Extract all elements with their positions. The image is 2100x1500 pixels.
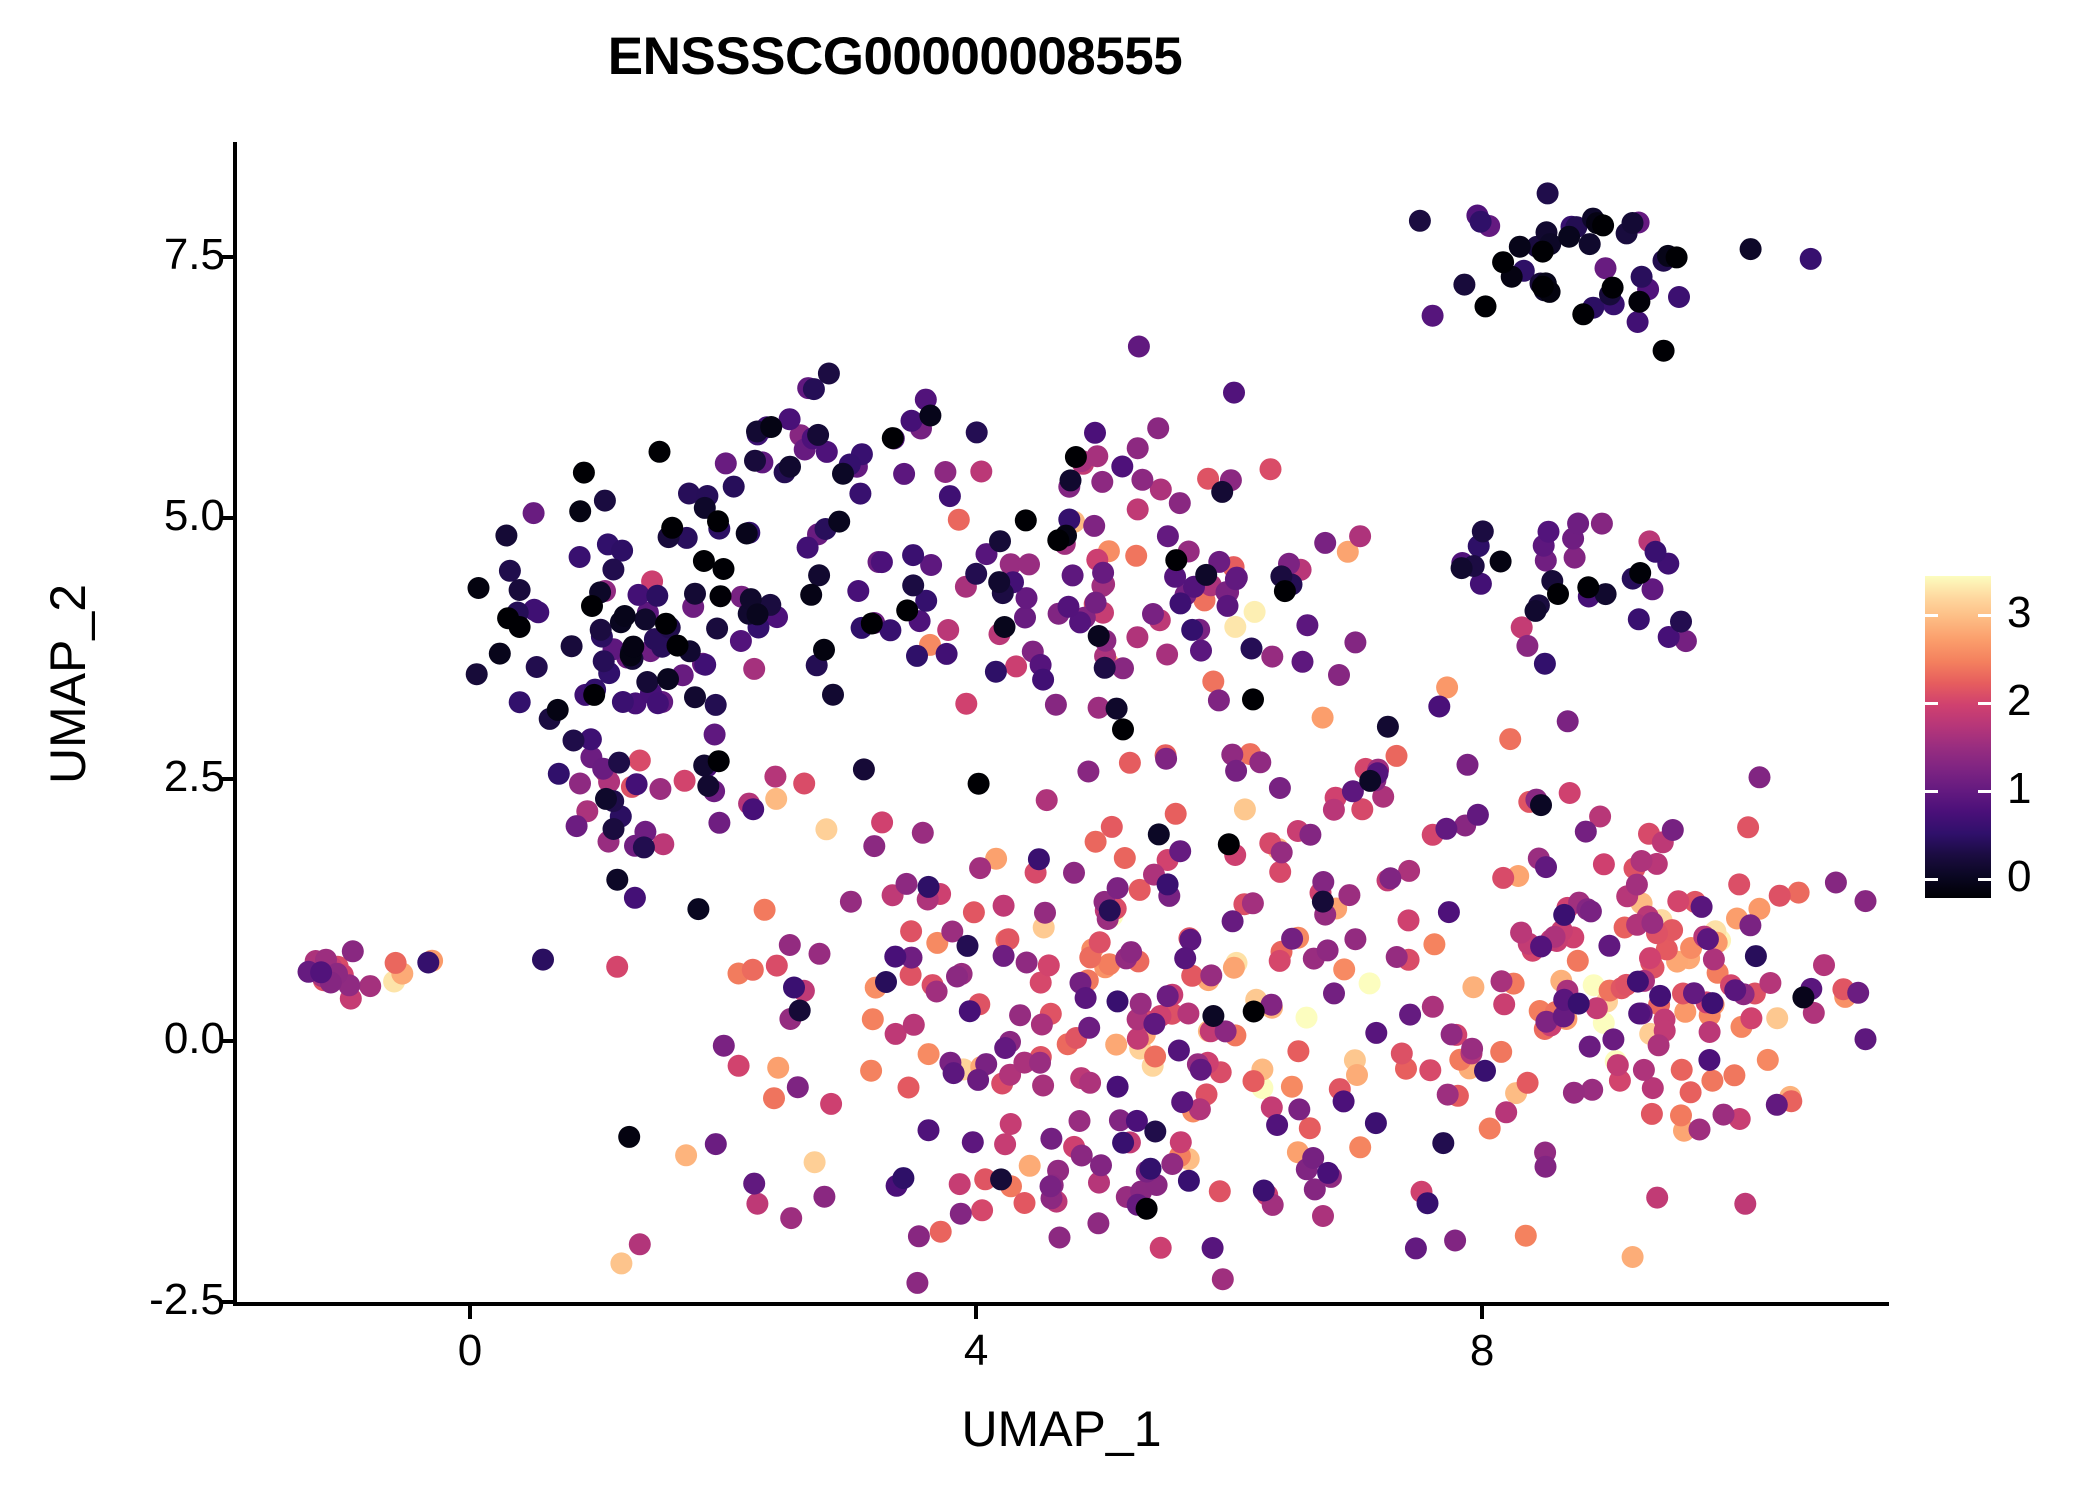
- scatter-point: [705, 694, 727, 716]
- scatter-point: [1479, 1118, 1501, 1140]
- scatter-point: [1195, 564, 1217, 586]
- scatter-point: [797, 537, 819, 559]
- scatter-point: [1222, 910, 1244, 932]
- scatter-point: [1436, 676, 1458, 698]
- scatter-point: [1532, 241, 1554, 263]
- scatter-point: [1157, 985, 1179, 1007]
- scatter-point: [1058, 596, 1080, 618]
- scatter-point: [649, 778, 671, 800]
- scatter-point: [930, 1221, 952, 1243]
- scatter-point: [1077, 761, 1099, 783]
- scatter-point: [1757, 1049, 1779, 1071]
- scatter-point: [1085, 831, 1107, 853]
- scatter-point: [971, 1199, 993, 1221]
- scatter-point: [1200, 964, 1222, 986]
- scatter-point: [1633, 1059, 1655, 1081]
- scatter-point: [815, 818, 837, 840]
- scatter-point: [1577, 576, 1599, 598]
- scatter-point: [626, 773, 648, 795]
- scatter-point: [1595, 257, 1617, 279]
- scatter-point: [902, 544, 924, 566]
- scatter-point: [1078, 1017, 1100, 1039]
- scatter-point: [1181, 619, 1203, 641]
- scatter-point: [789, 1000, 811, 1022]
- scatter-point: [1653, 340, 1675, 362]
- scatter-point: [957, 935, 979, 957]
- scatter-point: [875, 971, 897, 993]
- scatter-point: [1474, 1060, 1496, 1082]
- scatter-point: [569, 773, 591, 795]
- scatter-point: [1060, 469, 1082, 491]
- scatter-point: [1365, 1112, 1387, 1134]
- page-title: ENSSSCG00000008555: [0, 26, 1790, 87]
- scatter-point: [704, 724, 726, 746]
- scatter-point: [937, 619, 959, 641]
- scatter-point: [1766, 1094, 1788, 1116]
- scatter-point: [1208, 689, 1230, 711]
- scatter-point: [993, 945, 1015, 967]
- scatter-point: [918, 876, 940, 898]
- colorbar-tick-mark: [1925, 790, 1938, 793]
- colorbar-tick-mark: [1925, 702, 1938, 705]
- scatter-point: [1800, 248, 1822, 270]
- scatter-point: [901, 410, 923, 432]
- scatter-point: [1075, 987, 1097, 1009]
- scatter-point: [1580, 900, 1602, 922]
- scatter-point: [1532, 276, 1554, 298]
- scatter-point: [779, 456, 801, 478]
- scatter-point: [1148, 823, 1170, 845]
- scatter-point: [828, 511, 850, 533]
- scatter-point: [1575, 821, 1597, 843]
- scatter-point: [628, 584, 650, 606]
- scatter-point: [1234, 798, 1256, 820]
- scatter-point: [1419, 1059, 1441, 1081]
- scatter-point: [655, 613, 677, 635]
- scatter-point: [840, 891, 862, 913]
- scatter-point: [593, 650, 615, 672]
- scatter-point: [581, 595, 603, 617]
- scatter-point: [767, 1057, 789, 1079]
- scatter-point: [955, 693, 977, 715]
- scatter-point: [1211, 481, 1233, 503]
- y-tick-label: -2.5: [149, 1275, 225, 1325]
- scatter-point: [1014, 1192, 1036, 1214]
- scatter-point: [1142, 603, 1164, 625]
- y-tick-label: 0.0: [164, 1014, 225, 1064]
- scatter-point: [687, 898, 709, 920]
- scatter-point: [736, 523, 758, 545]
- scatter-point: [1629, 562, 1651, 584]
- scatter-point: [1493, 993, 1515, 1015]
- colorbar-tick-label: 2: [2007, 679, 2031, 723]
- scatter-point: [1087, 1212, 1109, 1234]
- scatter-point: [1602, 277, 1624, 299]
- scatter-point: [862, 1008, 884, 1030]
- scatter-point: [1333, 1090, 1355, 1112]
- scatter-point: [1312, 1205, 1334, 1227]
- scatter-point: [1323, 799, 1345, 821]
- colorbar-gradient: [1925, 576, 1991, 898]
- scatter-point: [1112, 718, 1134, 740]
- scatter-point: [566, 815, 588, 837]
- scatter-point: [1126, 1110, 1148, 1132]
- colorbar-tick-label: 1: [2007, 767, 2031, 811]
- scatter-point: [573, 462, 595, 484]
- scatter-point: [499, 560, 521, 582]
- scatter-point: [1359, 972, 1381, 994]
- scatter-point: [1628, 291, 1650, 313]
- y-tick-label: 5.0: [164, 491, 225, 541]
- scatter-point: [1535, 1156, 1557, 1178]
- scatter-point: [989, 530, 1011, 552]
- scatter-point: [969, 857, 991, 879]
- scatter-point: [1490, 551, 1512, 573]
- scatter-point: [610, 1252, 632, 1274]
- scatter-point: [1333, 958, 1355, 980]
- scatter-point: [1271, 841, 1293, 863]
- scatter-point: [1242, 892, 1264, 914]
- scatter-point: [569, 546, 591, 568]
- scatter-point: [967, 1069, 989, 1091]
- scatter-point: [1359, 770, 1381, 792]
- scatter-point: [1168, 1040, 1190, 1062]
- scatter-point: [1107, 990, 1129, 1012]
- scatter-point: [1165, 803, 1187, 825]
- scatter-point: [611, 540, 633, 562]
- scatter-point: [1015, 509, 1037, 531]
- colorbar-tick-mark: [1925, 878, 1938, 881]
- scatter-point: [809, 943, 831, 965]
- scatter-point: [1040, 1175, 1062, 1197]
- scatter-point: [1667, 890, 1689, 912]
- scatter-point: [1170, 592, 1192, 614]
- scatter-point: [723, 476, 745, 498]
- scatter-point: [595, 788, 617, 810]
- scatter-point: [1749, 766, 1771, 788]
- scatter-point: [934, 461, 956, 483]
- scatter-point: [743, 658, 765, 680]
- scatter-point: [1150, 1237, 1172, 1259]
- scatter-point: [684, 583, 706, 605]
- scatter-point: [1535, 856, 1557, 878]
- scatter-point: [1089, 931, 1111, 953]
- scatter-point: [1825, 872, 1847, 894]
- scatter-point: [1492, 251, 1514, 273]
- scatter-point: [1558, 226, 1580, 248]
- scatter-point: [959, 1000, 981, 1022]
- x-tick-mark: [974, 1306, 978, 1319]
- scatter-point: [1405, 1237, 1427, 1259]
- scatter-point: [1269, 861, 1291, 883]
- scatter-point: [1136, 1198, 1158, 1220]
- scatter-point: [359, 975, 381, 997]
- scatter-point: [1491, 970, 1513, 992]
- scatter-point: [1641, 1103, 1663, 1125]
- scatter-point: [1249, 751, 1271, 773]
- scatter-point: [1422, 305, 1444, 327]
- scatter-point: [1592, 214, 1614, 236]
- scatter-point: [1107, 1076, 1129, 1098]
- scatter-point: [708, 812, 730, 834]
- scatter-point: [1190, 640, 1212, 662]
- scatter-point: [1444, 1230, 1466, 1252]
- scatter-point: [1127, 437, 1149, 459]
- scatter-point: [1766, 1007, 1788, 1029]
- y-axis-title: UMAP_2: [39, 404, 97, 964]
- scatter-point: [1855, 890, 1877, 912]
- scatter-point: [1461, 1038, 1483, 1060]
- scatter-point: [1492, 867, 1514, 889]
- scatter-point: [569, 500, 591, 522]
- scatter-point: [708, 750, 730, 772]
- scatter-point: [674, 770, 696, 792]
- scatter-point: [1534, 653, 1556, 675]
- colorbar-tick-mark: [1978, 702, 1991, 705]
- x-tick-label: 0: [410, 1326, 530, 1376]
- scatter-point: [1516, 635, 1538, 657]
- scatter-point: [764, 766, 786, 788]
- scatter-point: [1530, 794, 1552, 816]
- scatter-point: [742, 959, 764, 981]
- scatter-point: [1567, 950, 1589, 972]
- scatter-point: [912, 822, 934, 844]
- scatter-point: [1622, 212, 1644, 234]
- scatter-point: [1662, 819, 1684, 841]
- scatter-point: [728, 1055, 750, 1077]
- scatter-point: [936, 643, 958, 665]
- x-axis-line: [233, 1302, 1889, 1306]
- scatter-point: [1689, 1119, 1711, 1141]
- scatter-point: [849, 483, 871, 505]
- scatter-point: [1728, 873, 1750, 895]
- scatter-point: [1428, 696, 1450, 718]
- scatter-point: [743, 1173, 765, 1195]
- scatter-point: [1591, 513, 1613, 535]
- scatter-point: [1171, 1091, 1193, 1113]
- scatter-point: [706, 618, 728, 640]
- scatter-point: [1417, 1192, 1439, 1214]
- scatter-point: [1701, 1070, 1723, 1092]
- scatter-point: [1128, 336, 1150, 358]
- scatter-point: [1564, 547, 1586, 569]
- scatter-point: [1680, 1081, 1702, 1103]
- colorbar-tick-label: 0: [2007, 855, 2031, 899]
- scatter-point: [1156, 644, 1178, 666]
- scatter-point: [1274, 580, 1296, 602]
- y-tick-label: 7.5: [164, 230, 225, 280]
- scatter-point: [509, 579, 531, 601]
- scatter-point: [495, 525, 517, 547]
- scatter-point: [468, 577, 490, 599]
- scatter-point: [1269, 777, 1291, 799]
- scatter-point: [1157, 873, 1179, 895]
- scatter-point: [807, 424, 829, 446]
- scatter-point: [1627, 311, 1649, 333]
- scatter-point: [747, 603, 769, 625]
- scatter-point: [532, 949, 554, 971]
- scatter-point: [1005, 655, 1027, 677]
- scatter-point: [1628, 608, 1650, 630]
- scatter-point: [906, 1272, 928, 1294]
- scatter-point: [1047, 529, 1069, 551]
- scatter-point: [1243, 1001, 1265, 1023]
- scatter-point: [647, 692, 669, 714]
- scatter-point: [1699, 1021, 1721, 1043]
- scatter-point: [710, 585, 732, 607]
- scatter-point: [808, 564, 830, 586]
- scatter-point: [1112, 1132, 1134, 1154]
- scatter-point: [1462, 976, 1484, 998]
- scatter-point: [606, 869, 628, 891]
- scatter-point: [1092, 562, 1114, 584]
- scatter-point: [1202, 671, 1224, 693]
- scatter-point: [902, 574, 924, 596]
- scatter-point: [1515, 1225, 1537, 1247]
- scatter-point: [813, 1186, 835, 1208]
- scatter-point: [633, 836, 655, 858]
- scatter-point: [903, 1014, 925, 1036]
- scatter-point: [705, 1133, 727, 1155]
- scatter-point: [1737, 816, 1759, 838]
- scatter-point: [1071, 1145, 1093, 1167]
- scatter-point: [466, 663, 488, 685]
- scatter-point: [1698, 1049, 1720, 1071]
- scatter-point: [994, 1037, 1016, 1059]
- scatter-point: [1281, 928, 1303, 950]
- scatter-point: [1346, 1064, 1368, 1086]
- scatter-point: [1472, 520, 1494, 542]
- scatter-point: [1114, 847, 1136, 869]
- scatter-point: [948, 509, 970, 531]
- scatter-point: [1127, 498, 1149, 520]
- scatter-point: [1224, 616, 1246, 638]
- scatter-point: [730, 630, 752, 652]
- scatter-point: [1645, 541, 1667, 563]
- scatter-point: [1147, 417, 1169, 439]
- scatter-point: [1018, 553, 1040, 575]
- scatter-point: [1131, 469, 1153, 491]
- scatter-point: [871, 811, 893, 833]
- scatter-point: [820, 1093, 842, 1115]
- scatter-point: [988, 571, 1010, 593]
- scatter-point: [1671, 1059, 1693, 1081]
- colorbar-tick-label: 3: [2007, 591, 2031, 635]
- scatter-point: [946, 966, 968, 988]
- scatter-point: [713, 1035, 735, 1057]
- scatter-point: [1105, 1034, 1127, 1056]
- scatter-point: [1312, 891, 1334, 913]
- scatter-point: [1161, 1153, 1183, 1175]
- plot-panel: [236, 142, 1887, 1302]
- scatter-point: [965, 563, 987, 585]
- scatter-point: [949, 1173, 971, 1195]
- scatter-point: [780, 1207, 802, 1229]
- scatter-point: [1111, 456, 1133, 478]
- scatter-point: [1579, 1036, 1601, 1058]
- scatter-point: [1016, 952, 1038, 974]
- scatter-point: [813, 639, 835, 661]
- scatter-point: [985, 661, 1007, 683]
- scatter-point: [548, 763, 570, 785]
- scatter-point: [1547, 583, 1569, 605]
- scatter-point: [693, 550, 715, 572]
- scatter-point: [1014, 607, 1036, 629]
- scatter-point: [939, 485, 961, 507]
- scatter-point: [1045, 694, 1067, 716]
- scatter-point: [1788, 882, 1810, 904]
- scatter-point: [1509, 236, 1531, 258]
- scatter-point: [523, 502, 545, 524]
- scatter-point: [1143, 1013, 1165, 1035]
- scatter-points-layer: [236, 142, 1887, 1302]
- scatter-point: [1107, 877, 1129, 899]
- scatter-point: [1631, 266, 1653, 288]
- colorbar-tick-mark: [1978, 878, 1991, 881]
- scatter-point: [990, 1168, 1012, 1190]
- scatter-point: [908, 1225, 930, 1247]
- scatter-point: [1000, 1113, 1022, 1135]
- scatter-point: [1813, 954, 1835, 976]
- scatter-point: [800, 584, 822, 606]
- scatter-point: [1470, 211, 1492, 233]
- scatter-point: [1140, 1158, 1162, 1180]
- scatter-point: [657, 668, 679, 690]
- scatter-point: [1144, 1046, 1166, 1068]
- scatter-point: [1034, 902, 1056, 924]
- scatter-point: [779, 934, 801, 956]
- scatter-point: [1165, 549, 1187, 571]
- scatter-point: [563, 730, 585, 752]
- scatter-point: [1314, 532, 1336, 554]
- scatter-point: [606, 956, 628, 978]
- scatter-point: [1437, 1084, 1459, 1106]
- scatter-point: [1683, 982, 1705, 1004]
- scatter-point: [624, 887, 646, 909]
- scatter-point: [1490, 1041, 1512, 1063]
- scatter-point: [1739, 914, 1761, 936]
- scatter-point: [1040, 1128, 1062, 1150]
- scatter-point: [1567, 513, 1589, 535]
- scatter-point: [1209, 1180, 1231, 1202]
- scatter-point: [675, 1144, 697, 1166]
- scatter-point: [661, 517, 683, 539]
- scatter-point: [893, 463, 915, 485]
- scatter-point: [684, 686, 706, 708]
- scatter-point: [1091, 471, 1113, 493]
- scatter-point: [1119, 752, 1141, 774]
- scatter-point: [697, 775, 719, 797]
- scatter-point: [489, 643, 511, 665]
- scatter-point: [994, 616, 1016, 638]
- scatter-point: [918, 1043, 940, 1065]
- scatter-point: [1083, 515, 1105, 537]
- scatter-point: [804, 1151, 826, 1173]
- scatter-point: [1130, 993, 1152, 1015]
- scatter-point: [742, 798, 764, 820]
- scatter-point: [1086, 445, 1108, 467]
- scatter-point: [1312, 707, 1334, 729]
- scatter-point: [1453, 274, 1475, 296]
- scatter-point: [1628, 1003, 1650, 1025]
- scatter-point: [882, 427, 904, 449]
- scatter-point: [1666, 246, 1688, 268]
- scatter-point: [1626, 874, 1648, 896]
- x-axis-title: UMAP_1: [236, 1400, 1887, 1458]
- scatter-point: [1288, 1098, 1310, 1120]
- scatter-point: [950, 1203, 972, 1225]
- scatter-point: [1179, 929, 1201, 951]
